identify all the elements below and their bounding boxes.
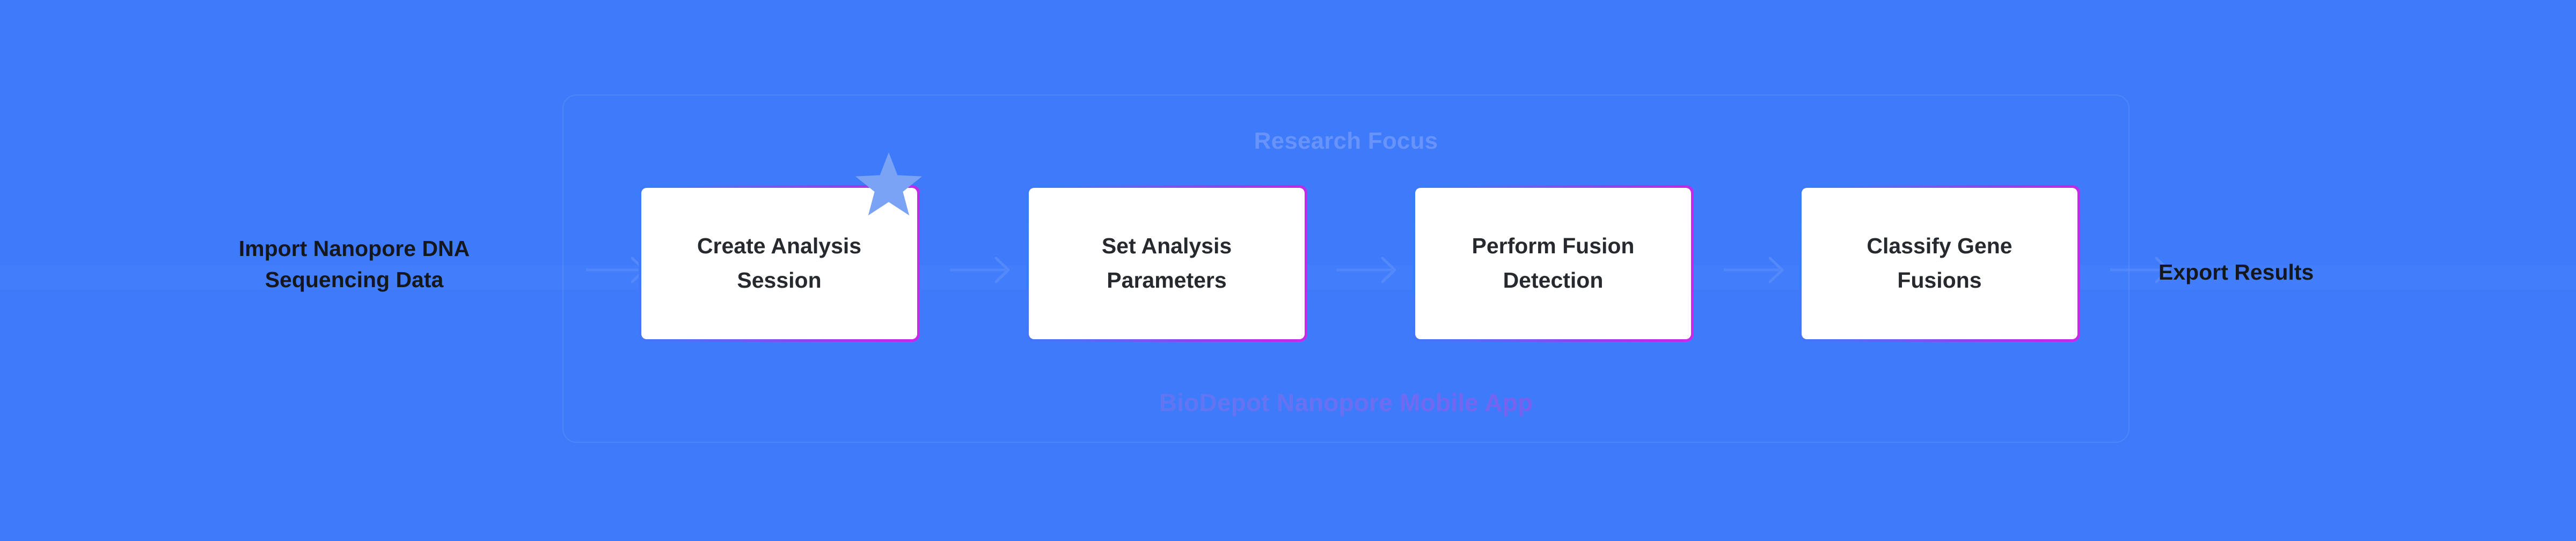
flow-start-label: Import Nanopore DNA Sequencing Data	[182, 233, 526, 295]
step-card-perform-fusion-detection[interactable]: Perform Fusion Detection	[1413, 185, 1694, 342]
step-card-label: Create Analysis Session	[697, 229, 861, 298]
step-card-classify-gene-fusions[interactable]: Classify Gene Fusions	[1799, 185, 2080, 342]
step-card-body: Perform Fusion Detection	[1415, 188, 1691, 339]
group-title: Research Focus	[563, 128, 2128, 155]
chevron-right-icon	[950, 253, 1021, 287]
flow-end-label: Export Results	[2158, 257, 2427, 288]
arrow-connector-step3-to-step4	[1724, 253, 1795, 287]
arrow-connector-step1-to-step2	[950, 253, 1021, 287]
chevron-right-icon	[1724, 253, 1795, 287]
group-footer-label: BioDepot Nanopore Mobile App	[563, 388, 2128, 417]
step-card-label: Classify Gene Fusions	[1867, 229, 2012, 298]
step-card-body: Classify Gene Fusions	[1802, 188, 2077, 339]
step-card-body: Set Analysis Parameters	[1029, 188, 1305, 339]
chevron-right-icon	[1336, 253, 1407, 287]
star-icon	[854, 151, 923, 217]
diagram-canvas: Research Focus BioDepot Nanopore Mobile …	[0, 0, 2576, 541]
step-card-label: Set Analysis Parameters	[1102, 229, 1232, 298]
step-card-set-analysis-parameters[interactable]: Set Analysis Parameters	[1026, 185, 1307, 342]
step-card-label: Perform Fusion Detection	[1472, 229, 1635, 298]
arrow-connector-step2-to-step3	[1336, 253, 1407, 287]
